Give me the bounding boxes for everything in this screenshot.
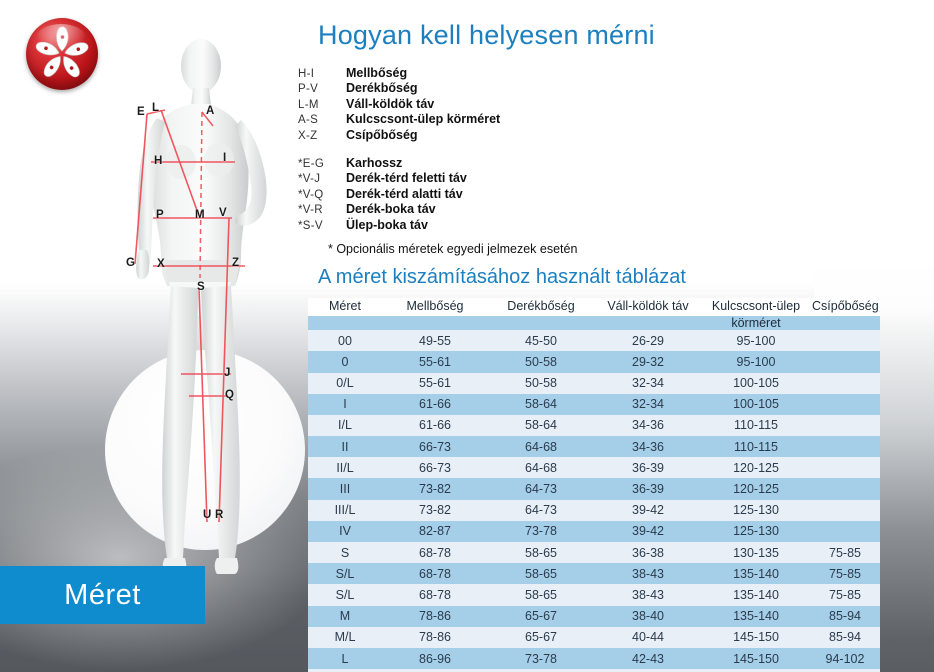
band-cell bbox=[488, 316, 594, 330]
col-header-csipoboseg: Csípőbőség bbox=[810, 298, 880, 316]
legend-desc: Csípőbőség bbox=[346, 128, 418, 142]
marker-v: V bbox=[219, 208, 227, 220]
band-cell bbox=[308, 316, 382, 330]
table-cell-c0: I bbox=[308, 394, 382, 415]
legend-code: P-V bbox=[298, 83, 346, 95]
table-cell-c4: 110-115 bbox=[702, 415, 810, 436]
table-cell-c3: 34-36 bbox=[594, 436, 702, 457]
table-cell-c3: 29-32 bbox=[594, 351, 702, 372]
legend-desc: Derék-térd alatti táv bbox=[346, 187, 463, 201]
table-cell-c4: 145-150 bbox=[702, 627, 810, 648]
table-cell-c4: 135-140 bbox=[702, 584, 810, 605]
logo-gloss bbox=[36, 24, 86, 52]
table-row: S/L68-7858-6538-43135-14075-85 bbox=[308, 584, 880, 605]
table-cell-c2: 65-67 bbox=[488, 627, 594, 648]
table-cell-c5: 85-94 bbox=[810, 627, 880, 648]
legend-code: *V-R bbox=[298, 204, 346, 216]
table-cell-c3: 39-42 bbox=[594, 500, 702, 521]
size-table-body: 0049-5545-5026-2995-100055-6150-5829-329… bbox=[308, 330, 880, 672]
legend-code: *V-J bbox=[298, 173, 346, 185]
table-cell-c3: 38-40 bbox=[594, 606, 702, 627]
table-cell-c1: 61-66 bbox=[382, 394, 488, 415]
table-cell-c1: 66-73 bbox=[382, 436, 488, 457]
legend-desc: Váll-köldök táv bbox=[346, 97, 434, 111]
legend-item: H-I Mellbőség bbox=[298, 66, 628, 81]
table-cell-c0: I/L bbox=[308, 415, 382, 436]
marker-u: U bbox=[203, 510, 211, 522]
table-cell-c4: 135-140 bbox=[702, 563, 810, 584]
table-cell-c4: 120-125 bbox=[702, 457, 810, 478]
table-cell-c4: 125-130 bbox=[702, 521, 810, 542]
table-cell-c5 bbox=[810, 500, 880, 521]
table-cell-c2: 64-73 bbox=[488, 478, 594, 499]
table-row: IV82-8773-7839-42125-130 bbox=[308, 521, 880, 542]
legend-desc: Derékbőség bbox=[346, 81, 418, 95]
legend-desc: Derék-boka táv bbox=[346, 202, 436, 216]
table-cell-c0: III bbox=[308, 478, 382, 499]
table-cell-c5: 85-94 bbox=[810, 606, 880, 627]
table-cell-c0: II bbox=[308, 436, 382, 457]
legend-item: L-M Váll-köldök táv bbox=[298, 97, 628, 112]
table-cell-c1: 68-78 bbox=[382, 563, 488, 584]
table-cell-c5 bbox=[810, 436, 880, 457]
table-cell-c2: 64-68 bbox=[488, 436, 594, 457]
table-cell-c1: 73-82 bbox=[382, 478, 488, 499]
marker-e: E bbox=[137, 107, 145, 119]
table-cell-c2: 58-65 bbox=[488, 584, 594, 605]
band-cell bbox=[810, 316, 880, 330]
table-cell-c5 bbox=[810, 478, 880, 499]
table-cell-c1: 61-66 bbox=[382, 415, 488, 436]
bauhinia-emblem-icon bbox=[20, 12, 104, 96]
table-cell-c0: IV bbox=[308, 521, 382, 542]
col-header-mellboseg: Mellbőség bbox=[382, 298, 488, 316]
band-cell bbox=[382, 316, 488, 330]
table-cell-c4: 110-115 bbox=[702, 436, 810, 457]
table-cell-c0: 00 bbox=[308, 330, 382, 351]
size-banner: Méret bbox=[0, 566, 205, 624]
table-row: II66-7364-6834-36110-115 bbox=[308, 436, 880, 457]
table-cell-c1: 68-78 bbox=[382, 584, 488, 605]
table-cell-c1: 55-61 bbox=[382, 373, 488, 394]
marker-r: R bbox=[215, 510, 223, 522]
table-cell-c1: 86-96 bbox=[382, 648, 488, 669]
table-cell-c4: 125-130 bbox=[702, 500, 810, 521]
table-cell-c0: M/L bbox=[308, 627, 382, 648]
table-header-row: Méret Mellbőség Derékbőség Váll-köldök t… bbox=[308, 298, 880, 316]
table-row: 0049-5545-5026-2995-100 bbox=[308, 330, 880, 351]
table-title: A méret kiszámításához használt táblázat bbox=[318, 266, 686, 289]
table-row: M78-8665-6738-40135-14085-94 bbox=[308, 606, 880, 627]
table-cell-c2: 64-68 bbox=[488, 457, 594, 478]
legend-code: *S-V bbox=[298, 220, 346, 232]
marker-l: L bbox=[152, 103, 159, 115]
table-cell-c5: 75-85 bbox=[810, 584, 880, 605]
col-header-vall-koldok: Váll-köldök táv bbox=[594, 298, 702, 316]
table-cell-c1: 82-87 bbox=[382, 521, 488, 542]
legend-desc: Derék-térd feletti táv bbox=[346, 171, 467, 185]
table-cell-c0: S/L bbox=[308, 584, 382, 605]
table-cell-c3: 39-42 bbox=[594, 521, 702, 542]
table-cell-c0: II/L bbox=[308, 457, 382, 478]
legend-item-optional: *V-R Derék-boka táv bbox=[298, 202, 628, 217]
table-cell-c3: 32-34 bbox=[594, 373, 702, 394]
slide-canvas: ELAHIPMVGXZSJQUR Hogyan kell helyesen mé… bbox=[0, 0, 934, 672]
table-cell-c5 bbox=[810, 521, 880, 542]
table-cell-c3: 38-43 bbox=[594, 563, 702, 584]
table-cell-c2: 58-65 bbox=[488, 542, 594, 563]
table-cell-c5 bbox=[810, 351, 880, 372]
legend-code: X-Z bbox=[298, 130, 346, 142]
table-cell-c2: 58-64 bbox=[488, 415, 594, 436]
legend-code: H-I bbox=[298, 68, 346, 80]
size-table-head: Méret Mellbőség Derékbőség Váll-köldök t… bbox=[308, 298, 880, 330]
table-cell-c5 bbox=[810, 373, 880, 394]
legend-desc: Kulcscsont-ülep körméret bbox=[346, 112, 500, 126]
legend-item-optional: *V-Q Derék-térd alatti táv bbox=[298, 187, 628, 202]
table-cell-c5 bbox=[810, 330, 880, 351]
legend-item: X-Z Csípőbőség bbox=[298, 128, 628, 143]
table-cell-c1: 55-61 bbox=[382, 351, 488, 372]
col-subheader-kormeret: körméret bbox=[702, 316, 810, 330]
table-cell-c5 bbox=[810, 457, 880, 478]
legend-code: *V-Q bbox=[298, 189, 346, 201]
table-cell-c2: 58-64 bbox=[488, 394, 594, 415]
legend-desc: Mellbőség bbox=[346, 66, 407, 80]
mannequin-diagram: ELAHIPMVGXZSJQUR bbox=[95, 10, 310, 590]
table-cell-c3: 32-34 bbox=[594, 394, 702, 415]
legend-item: A-S Kulcscsont-ülep körméret bbox=[298, 112, 628, 127]
table-cell-c1: 66-73 bbox=[382, 457, 488, 478]
table-cell-c2: 73-78 bbox=[488, 648, 594, 669]
table-cell-c0: 0/L bbox=[308, 373, 382, 394]
table-cell-c5 bbox=[810, 394, 880, 415]
table-header-subrow: körméret bbox=[308, 316, 880, 330]
table-row: III/L73-8264-7339-42125-130 bbox=[308, 500, 880, 521]
marker-q: Q bbox=[225, 390, 234, 402]
legend-item-optional: *E-G Karhossz bbox=[298, 156, 628, 171]
table-cell-c4: 100-105 bbox=[702, 373, 810, 394]
table-cell-c2: 45-50 bbox=[488, 330, 594, 351]
table-cell-c3: 36-39 bbox=[594, 457, 702, 478]
legend-desc: Karhossz bbox=[346, 156, 402, 170]
table-cell-c0: S/L bbox=[308, 563, 382, 584]
measurement-legend: H-I Mellbőség P-V Derékbőség L-M Váll-kö… bbox=[298, 66, 628, 233]
legend-desc: Ülep-boka táv bbox=[346, 218, 428, 232]
page-title: Hogyan kell helyesen mérni bbox=[318, 20, 655, 51]
table-cell-c2: 73-78 bbox=[488, 521, 594, 542]
table-cell-c3: 40-44 bbox=[594, 627, 702, 648]
table-cell-c2: 50-58 bbox=[488, 373, 594, 394]
table-row: 0/L55-6150-5832-34100-105 bbox=[308, 373, 880, 394]
table-cell-c0: M bbox=[308, 606, 382, 627]
marker-a: A bbox=[206, 106, 214, 118]
marker-h: H bbox=[154, 156, 162, 168]
legend-item: P-V Derékbőség bbox=[298, 81, 628, 96]
marker-x: X bbox=[157, 259, 165, 271]
table-cell-c4: 145-150 bbox=[702, 648, 810, 669]
marker-p: P bbox=[156, 210, 164, 222]
size-banner-label: Méret bbox=[64, 579, 141, 612]
table-cell-c2: 50-58 bbox=[488, 351, 594, 372]
marker-m: M bbox=[195, 210, 205, 222]
table-cell-c3: 42-43 bbox=[594, 648, 702, 669]
table-cell-c3: 36-39 bbox=[594, 478, 702, 499]
marker-j: J bbox=[224, 368, 230, 380]
table-row: L86-9673-7842-43145-15094-102 bbox=[308, 648, 880, 669]
table-row: S/L68-7858-6538-43135-14075-85 bbox=[308, 563, 880, 584]
band-cell bbox=[594, 316, 702, 330]
table-row: III73-8264-7336-39120-125 bbox=[308, 478, 880, 499]
table-cell-c4: 135-140 bbox=[702, 606, 810, 627]
table-cell-c1: 78-86 bbox=[382, 606, 488, 627]
table-cell-c4: 95-100 bbox=[702, 330, 810, 351]
table-cell-c2: 58-65 bbox=[488, 563, 594, 584]
table-cell-c4: 95-100 bbox=[702, 351, 810, 372]
table-cell-c4: 100-105 bbox=[702, 394, 810, 415]
marker-s: S bbox=[197, 282, 205, 294]
table-cell-c1: 78-86 bbox=[382, 627, 488, 648]
size-table: Méret Mellbőség Derékbőség Váll-köldök t… bbox=[308, 298, 880, 672]
table-row: M/L78-8665-6740-44145-15085-94 bbox=[308, 627, 880, 648]
table-cell-c5: 75-85 bbox=[810, 542, 880, 563]
legend-item-optional: *S-V Ülep-boka táv bbox=[298, 218, 628, 233]
table-cell-c0: III/L bbox=[308, 500, 382, 521]
legend-code: *E-G bbox=[298, 158, 346, 170]
legend-code: L-M bbox=[298, 99, 346, 111]
table-cell-c5: 94-102 bbox=[810, 648, 880, 669]
table-row: II/L66-7364-6836-39120-125 bbox=[308, 457, 880, 478]
table-cell-c2: 65-67 bbox=[488, 606, 594, 627]
table-cell-c3: 26-29 bbox=[594, 330, 702, 351]
marker-i: I bbox=[223, 153, 226, 165]
table-cell-c3: 38-43 bbox=[594, 584, 702, 605]
legend-footnote: * Opcionális méretek egyedi jelmezek ese… bbox=[328, 242, 577, 256]
col-header-meret: Méret bbox=[308, 298, 382, 316]
legend-item-optional: *V-J Derék-térd feletti táv bbox=[298, 171, 628, 186]
table-row: S68-7858-6536-38130-13575-85 bbox=[308, 542, 880, 563]
table-cell-c3: 34-36 bbox=[594, 415, 702, 436]
mannequin-figure-icon bbox=[95, 10, 310, 590]
marker-g: G bbox=[126, 258, 135, 270]
col-header-derekboseg: Derékbőség bbox=[488, 298, 594, 316]
table-cell-c2: 64-73 bbox=[488, 500, 594, 521]
table-cell-c3: 36-38 bbox=[594, 542, 702, 563]
table-cell-c4: 120-125 bbox=[702, 478, 810, 499]
table-cell-c1: 49-55 bbox=[382, 330, 488, 351]
table-row: I61-6658-6432-34100-105 bbox=[308, 394, 880, 415]
table-cell-c0: L bbox=[308, 648, 382, 669]
table-cell-c5: 75-85 bbox=[810, 563, 880, 584]
table-cell-c1: 68-78 bbox=[382, 542, 488, 563]
table-cell-c4: 130-135 bbox=[702, 542, 810, 563]
size-table-wrapper: Méret Mellbőség Derékbőség Váll-köldök t… bbox=[308, 298, 880, 672]
col-header-kulcscsont: Kulcscsont-ülep bbox=[702, 298, 810, 316]
table-row: 055-6150-5829-3295-100 bbox=[308, 351, 880, 372]
legend-separator bbox=[298, 143, 628, 156]
legend-code: A-S bbox=[298, 114, 346, 126]
table-row: I/L61-6658-6434-36110-115 bbox=[308, 415, 880, 436]
table-cell-c0: S bbox=[308, 542, 382, 563]
table-cell-c0: 0 bbox=[308, 351, 382, 372]
marker-z: Z bbox=[232, 258, 239, 270]
table-cell-c5 bbox=[810, 415, 880, 436]
table-cell-c1: 73-82 bbox=[382, 500, 488, 521]
